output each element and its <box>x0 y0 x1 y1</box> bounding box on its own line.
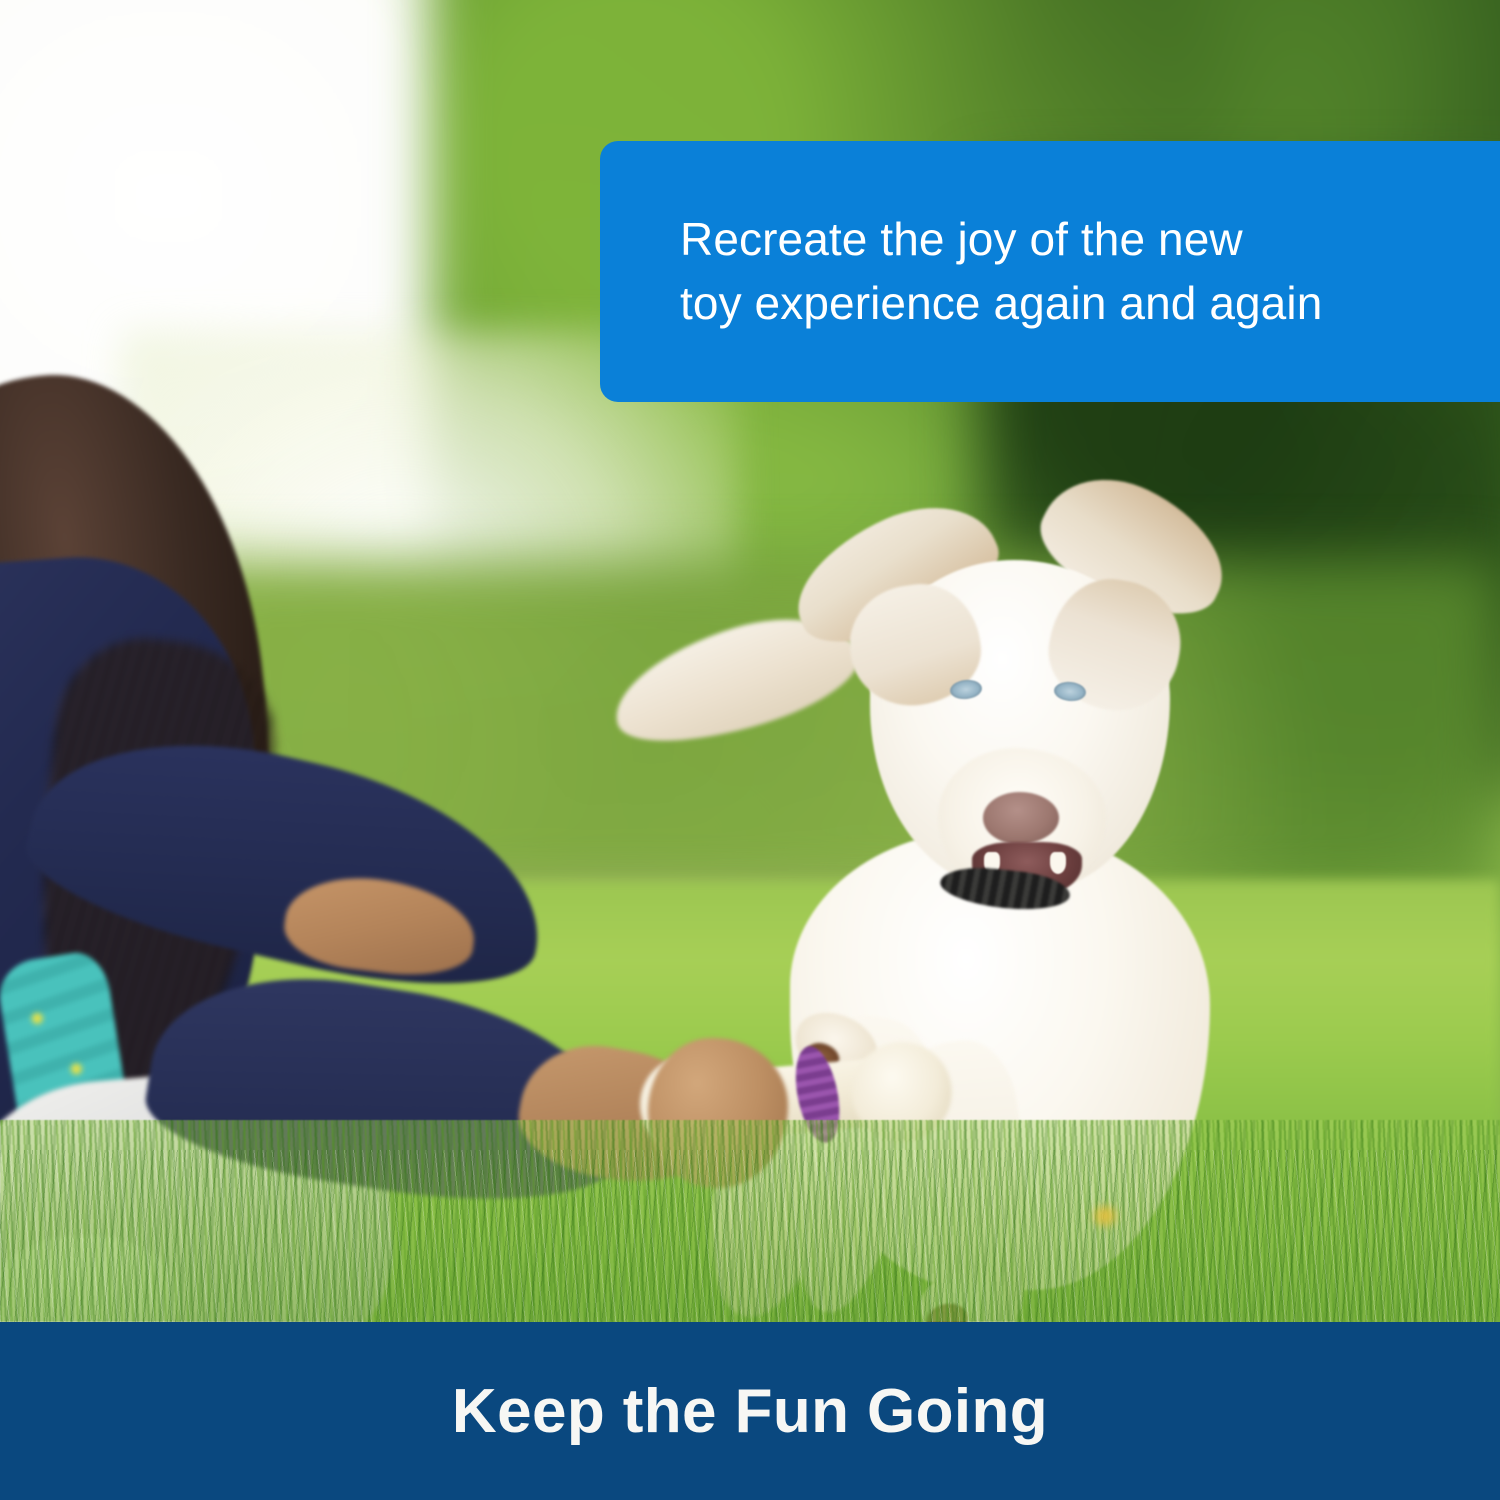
banner-headline: Keep the Fun Going <box>452 1376 1048 1447</box>
callout-headline: Recreate the joy of the new toy experien… <box>680 208 1322 334</box>
dog-tooth-right <box>1050 852 1066 874</box>
foreground-grass-blades <box>0 1150 1500 1322</box>
promotional-banner-image: Recreate the joy of the new toy experien… <box>0 0 1500 1500</box>
callout-box: Recreate the joy of the new toy experien… <box>600 141 1500 402</box>
dandelion-bokeh <box>1092 1205 1118 1227</box>
bottom-banner: Keep the Fun Going <box>0 1322 1500 1500</box>
